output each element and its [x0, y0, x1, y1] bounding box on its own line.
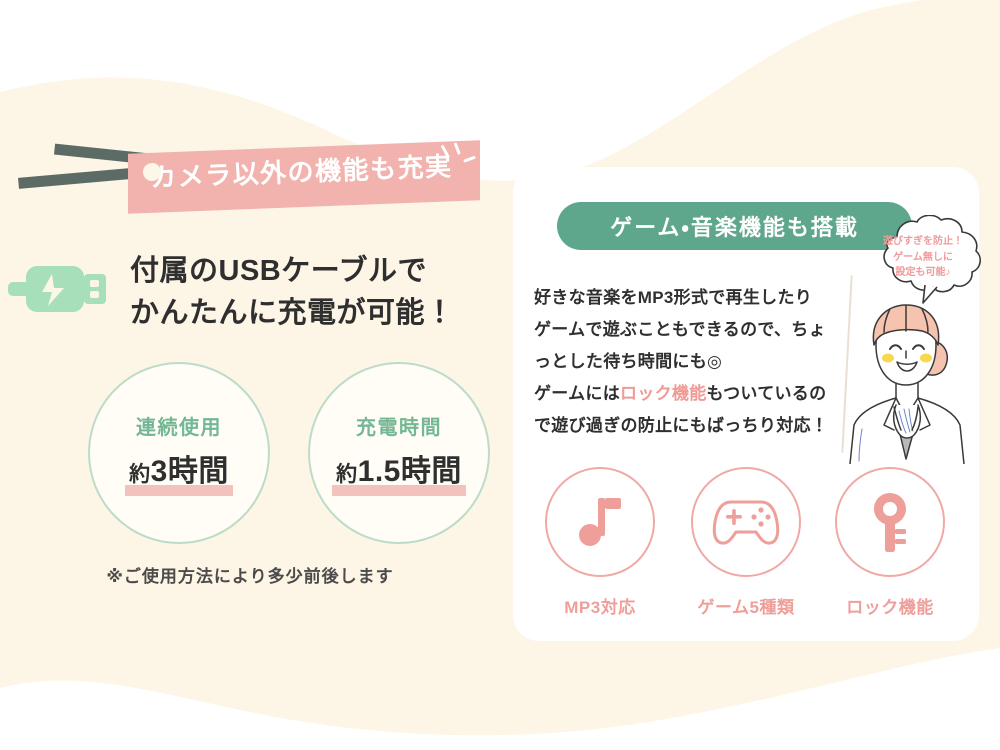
feature-mp3[interactable]: MP3対応: [545, 467, 655, 618]
music-note-icon: [572, 492, 628, 552]
card-title-pill: ゲーム・音楽機能も搭載: [557, 202, 912, 250]
body-line-2: ゲームで遊ぶこともできるので、ちょ: [534, 314, 864, 346]
feature-label: MP3対応: [545, 593, 655, 618]
feature-games[interactable]: ゲーム5種類: [691, 467, 801, 618]
usb-headline-line2: かんたんに充電が可能！: [130, 292, 455, 334]
feature-lock[interactable]: ロック機能: [835, 467, 945, 618]
body-line-3: っとした待ち時間にも◎: [534, 346, 864, 378]
gamepad-icon: [711, 496, 781, 548]
feature-label: ゲーム5種類: [691, 593, 801, 618]
smiling-woman-illustration: [838, 299, 973, 464]
spec-value: 約3時間: [129, 446, 229, 490]
game-music-card: ゲーム・音楽機能も搭載 遊びすぎを防止！ ゲーム無しに 設定も可能♪ 好きな音楽…: [513, 167, 979, 641]
feature-circle: [835, 467, 945, 577]
body-line-1: 好きな音楽をMP3形式で再生したり: [534, 282, 864, 314]
body-line-4-pre: ゲームには: [534, 384, 620, 403]
body-line-5: で遊び過ぎの防止にもばっちり対応！: [534, 410, 864, 442]
spec-approx-prefix: 約: [129, 463, 151, 486]
feature-label: ロック機能: [835, 593, 945, 618]
spec-label: 充電時間: [356, 411, 442, 440]
spec-approx-prefix: 約: [336, 463, 358, 486]
spec-continuous-use: 連続使用 約3時間: [88, 362, 270, 544]
bubble-line-1: 遊びすぎを防止！: [871, 234, 975, 250]
bubble-line-2: ゲーム無しに: [871, 250, 975, 266]
usb-headline: 付属のUSBケーブルで かんたんに充電が可能！: [130, 250, 455, 334]
key-icon: [868, 491, 912, 553]
lock-feature-highlight: ロック機能: [620, 384, 707, 403]
spec-amount: 1.5時間: [358, 455, 462, 488]
sparkle-icon: [439, 141, 480, 172]
spec-value-wrap: 約1.5時間: [332, 446, 466, 496]
body-line-4: ゲームにはロック機能もついているの: [534, 378, 864, 410]
usb-charge-icon: [8, 258, 113, 320]
feature-circle: [545, 467, 655, 577]
spec-amount: 3時間: [151, 455, 229, 488]
card-title-label: ゲーム・音楽機能も搭載: [610, 210, 859, 242]
bubble-line-3: 設定も可能♪: [871, 265, 975, 281]
feature-circle: [691, 467, 801, 577]
speech-bubble-text: 遊びすぎを防止！ ゲーム無しに 設定も可能♪: [871, 234, 975, 281]
spec-value: 約1.5時間: [336, 446, 462, 490]
spec-label: 連続使用: [136, 411, 222, 440]
left-column: カメラ以外の機能も充実 付属のUSBケーブルで かんたんに充電が可能！: [0, 130, 500, 650]
footnote-text: ※ご使用方法により多少前後します: [0, 562, 500, 587]
body-line-4-post: もついているの: [707, 384, 827, 403]
usb-headline-line1: 付属のUSBケーブルで: [130, 250, 455, 292]
spec-value-wrap: 約3時間: [125, 446, 233, 496]
card-body-text: 好きな音楽をMP3形式で再生したり ゲームで遊ぶこともできるので、ちょ っとした…: [534, 282, 864, 442]
spec-charge-time: 充電時間 約1.5時間: [308, 362, 490, 544]
infographic-stage: カメラ以外の機能も充実 付属のUSBケーブルで かんたんに充電が可能！: [0, 0, 1000, 750]
